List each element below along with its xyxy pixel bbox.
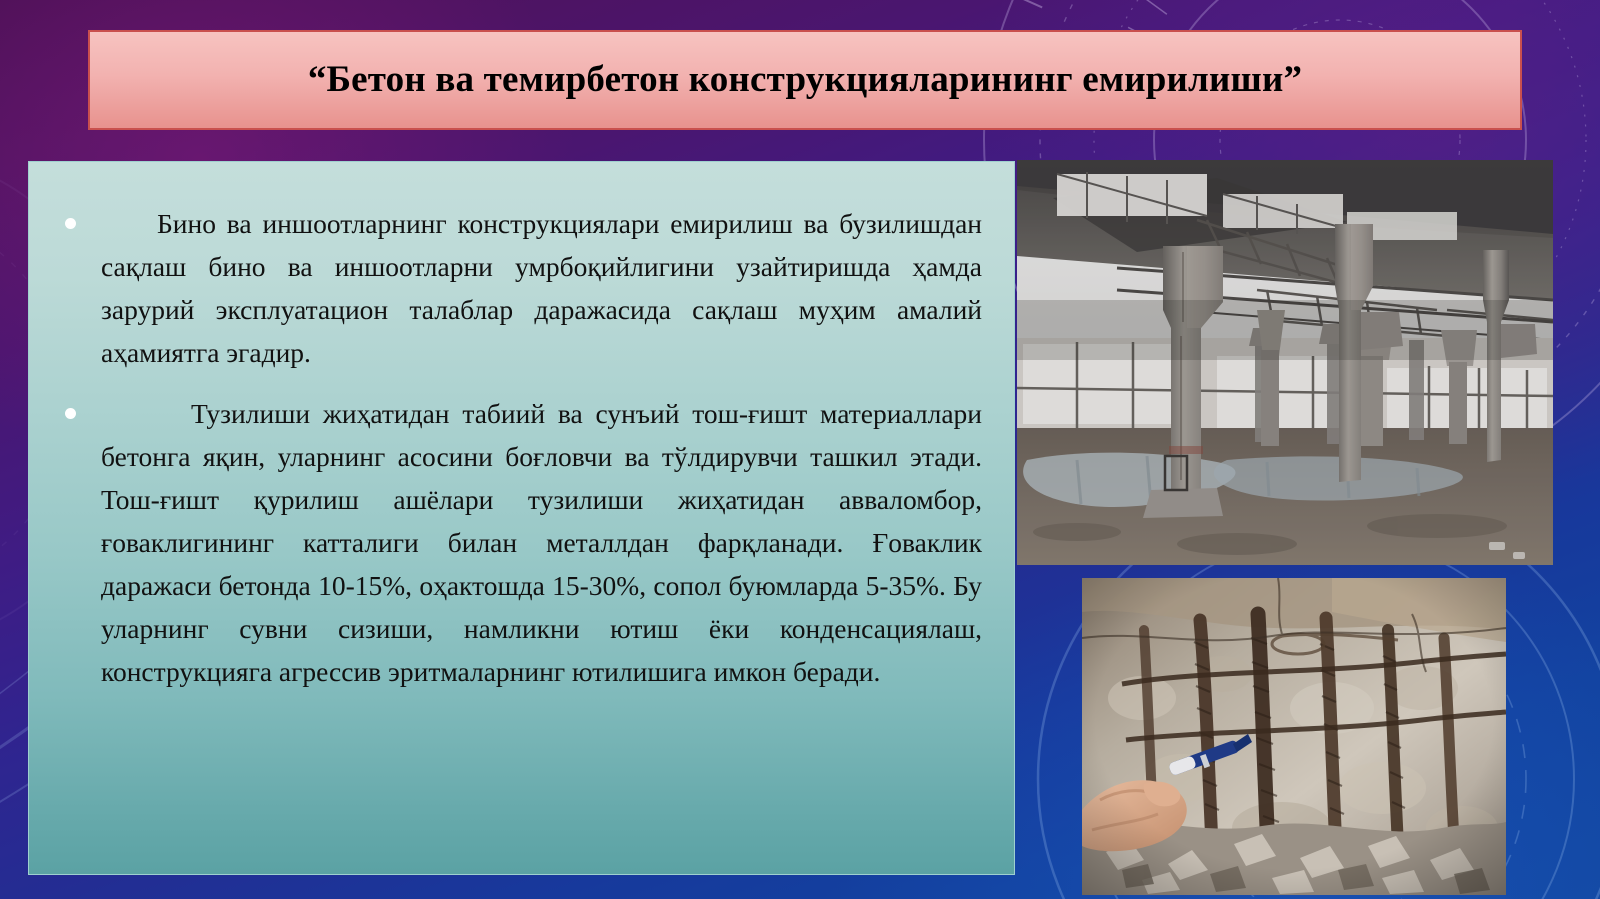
warehouse-photo: Abandoned industrial hall interior with … xyxy=(1017,160,1553,565)
content-panel: Бино ва иншоотларнинг конструкциялари ем… xyxy=(28,161,1015,875)
page-title: “Бетон ва темирбетон конструкцияларининг… xyxy=(308,60,1302,101)
slide-title-box: “Бетон ва темирбетон конструкцияларининг… xyxy=(88,30,1522,130)
paragraph-text: Бино ва иншоотларнинг конструкциялари ем… xyxy=(101,202,982,374)
bullet-dot-icon xyxy=(65,218,76,229)
rebar-corrosion-photo: Hand with a pen pointing at corroded exp… xyxy=(1082,578,1506,895)
list-item: Бино ва иншоотларнинг конструкциялари ем… xyxy=(47,202,982,374)
bullet-dot-icon xyxy=(65,408,76,419)
paragraph-text: Тузилиши жиҳатидан табиий ва сунъий тош-… xyxy=(101,392,982,693)
list-item: Тузилиши жиҳатидан табиий ва сунъий тош-… xyxy=(47,392,982,693)
presentation-slide: 21 “Бетон ва темирбетон конструкцияларин… xyxy=(0,0,1600,899)
